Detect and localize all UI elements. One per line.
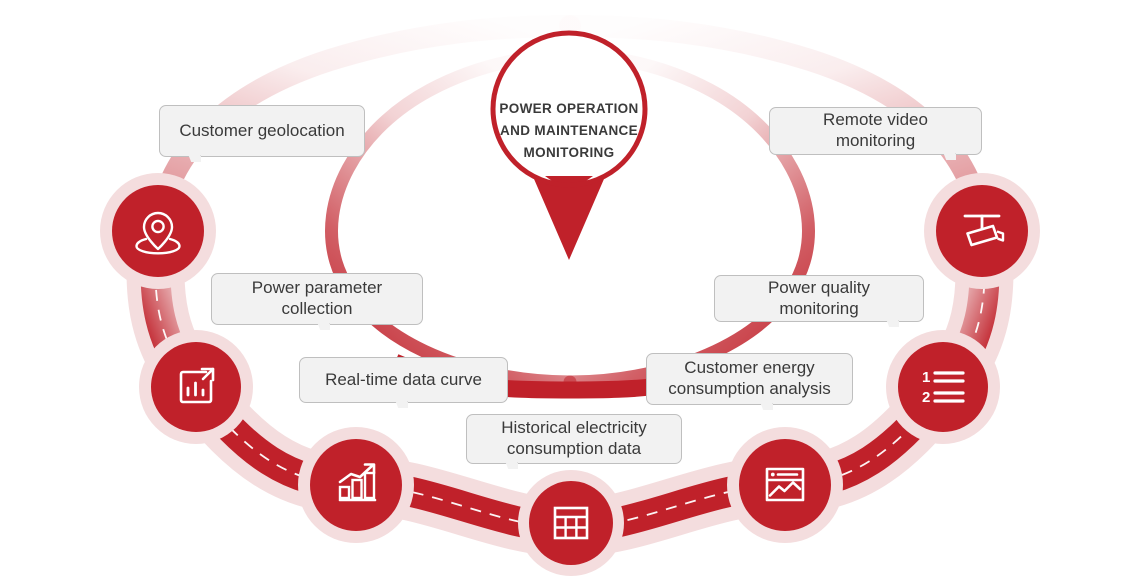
callout-label-line-2: collection: [252, 299, 382, 320]
node-historical-consumption-data[interactable]: [518, 470, 624, 576]
callout-real-time-data-curve[interactable]: Real-time data curve: [299, 357, 508, 403]
node-real-time-data-curve[interactable]: [298, 427, 414, 543]
location-pin-icon: [132, 205, 184, 257]
diagram-canvas: POWER OPERATION AND MAINTENANCE MONITORI…: [0, 0, 1139, 587]
table-grid-icon: [548, 500, 594, 546]
callout-label-line-2: consumption data: [501, 439, 646, 460]
callout-tail: [395, 401, 408, 413]
callout-label-line-2: consumption analysis: [668, 379, 831, 400]
callout-label: Power parameter collection: [252, 278, 382, 319]
center-title-line-2: AND MAINTENANCE: [483, 120, 655, 142]
node-remote-video-monitoring[interactable]: [924, 173, 1040, 289]
callout-historical-consumption-data[interactable]: Historical electricity consumption data: [466, 414, 682, 464]
callout-label: Customer energy consumption analysis: [668, 358, 831, 399]
growth-chart-icon: [330, 460, 382, 510]
callout-label: Historical electricity consumption data: [501, 418, 646, 459]
callout-tail: [505, 462, 518, 474]
center-title-line-1: POWER OPERATION: [483, 98, 655, 120]
node-power-parameter-collection[interactable]: [139, 330, 253, 444]
callout-power-quality-monitoring[interactable]: Power quality monitoring: [714, 275, 924, 322]
callout-label: Remote video monitoring: [784, 110, 967, 151]
callout-tail: [760, 403, 773, 415]
callout-label: Power quality monitoring: [729, 278, 909, 319]
callout-remote-video-monitoring[interactable]: Remote video monitoring: [769, 107, 982, 155]
center-title-line-3: MONITORING: [483, 142, 655, 164]
callout-customer-energy-analysis[interactable]: Customer energy consumption analysis: [646, 353, 853, 405]
callout-tail: [943, 153, 956, 165]
callout-label-line-1: Customer energy: [668, 358, 831, 379]
callout-tail: [317, 323, 330, 335]
callout-label-line-1: Power parameter: [252, 278, 382, 299]
callout-tail: [188, 155, 201, 167]
node-customer-geolocation[interactable]: [100, 173, 216, 289]
bar-chart-export-icon: [172, 363, 220, 411]
svg-text:1: 1: [922, 369, 930, 386]
cctv-camera-icon: [956, 207, 1008, 255]
center-pin-title: POWER OPERATION AND MAINTENANCE MONITORI…: [483, 98, 655, 164]
node-power-quality-monitoring[interactable]: 1 2: [886, 330, 1000, 444]
callout-customer-geolocation[interactable]: Customer geolocation: [159, 105, 365, 157]
callout-label: Real-time data curve: [325, 370, 482, 391]
svg-text:2: 2: [922, 389, 930, 406]
node-customer-energy-analysis[interactable]: [727, 427, 843, 543]
center-pin: POWER OPERATION AND MAINTENANCE MONITORI…: [483, 26, 655, 266]
numbered-list-icon: 1 2: [918, 365, 968, 409]
window-chart-icon: [760, 461, 810, 509]
callout-label-line-1: Historical electricity: [501, 418, 646, 439]
callout-tail: [886, 320, 899, 332]
callout-power-parameter-collection[interactable]: Power parameter collection: [211, 273, 423, 325]
callout-label: Customer geolocation: [179, 121, 344, 142]
